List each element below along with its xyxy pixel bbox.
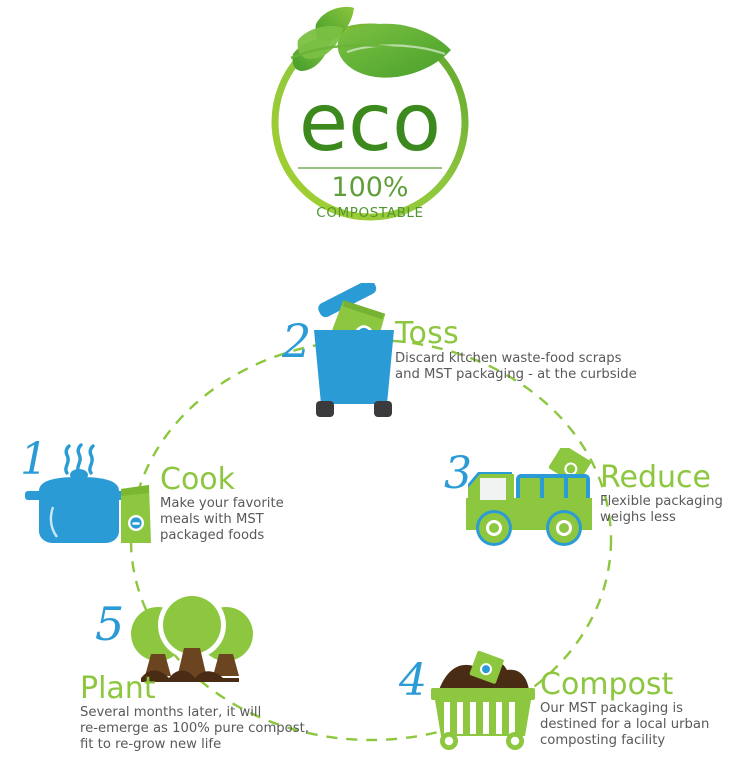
badge-caption: COMPOSTABLE [316, 205, 423, 221]
step-title-toss: Toss [395, 318, 735, 350]
badge-wordmark: eco [299, 76, 441, 169]
eco-compostable-badge: eco 100% COMPOSTABLE [255, 2, 485, 237]
trash-bin-icon [306, 283, 406, 423]
step-title-cook: Cook [160, 464, 335, 496]
step-desc-plant: Several months later, it will re-emerge … [80, 705, 340, 753]
step-title-reduce: Reduce [600, 462, 750, 494]
compost-bin-icon [427, 646, 539, 754]
step-text-reduce: Reduce Flexible packaging weighs less [600, 462, 750, 526]
leaf-icon [291, 7, 451, 78]
step-title-plant: Plant [80, 673, 340, 705]
step-text-plant: Plant Several months later, it will re-e… [80, 673, 340, 753]
garbage-truck-icon [460, 448, 600, 558]
step-title-compost: Compost [540, 669, 750, 701]
infographic-canvas: eco 100% COMPOSTABLE 2 [0, 0, 750, 779]
step-number-4: 4 [399, 659, 427, 703]
step-desc-compost: Our MST packaging is destined for a loca… [540, 701, 750, 749]
step-desc-reduce: Flexible packaging weighs less [600, 494, 750, 526]
badge-percent: 100% [331, 172, 408, 203]
step-text-compost: Compost Our MST packaging is destined fo… [540, 669, 750, 749]
cooking-pot-icon [25, 443, 155, 548]
step-text-toss: Toss Discard kitchen waste-food scraps a… [395, 318, 735, 383]
step-desc-toss: Discard kitchen waste-food scraps and MS… [395, 351, 735, 383]
step-text-cook: Cook Make your favorite meals with MST p… [160, 464, 335, 544]
step-number-5: 5 [95, 601, 124, 647]
step-desc-cook: Make your favorite meals with MST packag… [160, 496, 335, 544]
